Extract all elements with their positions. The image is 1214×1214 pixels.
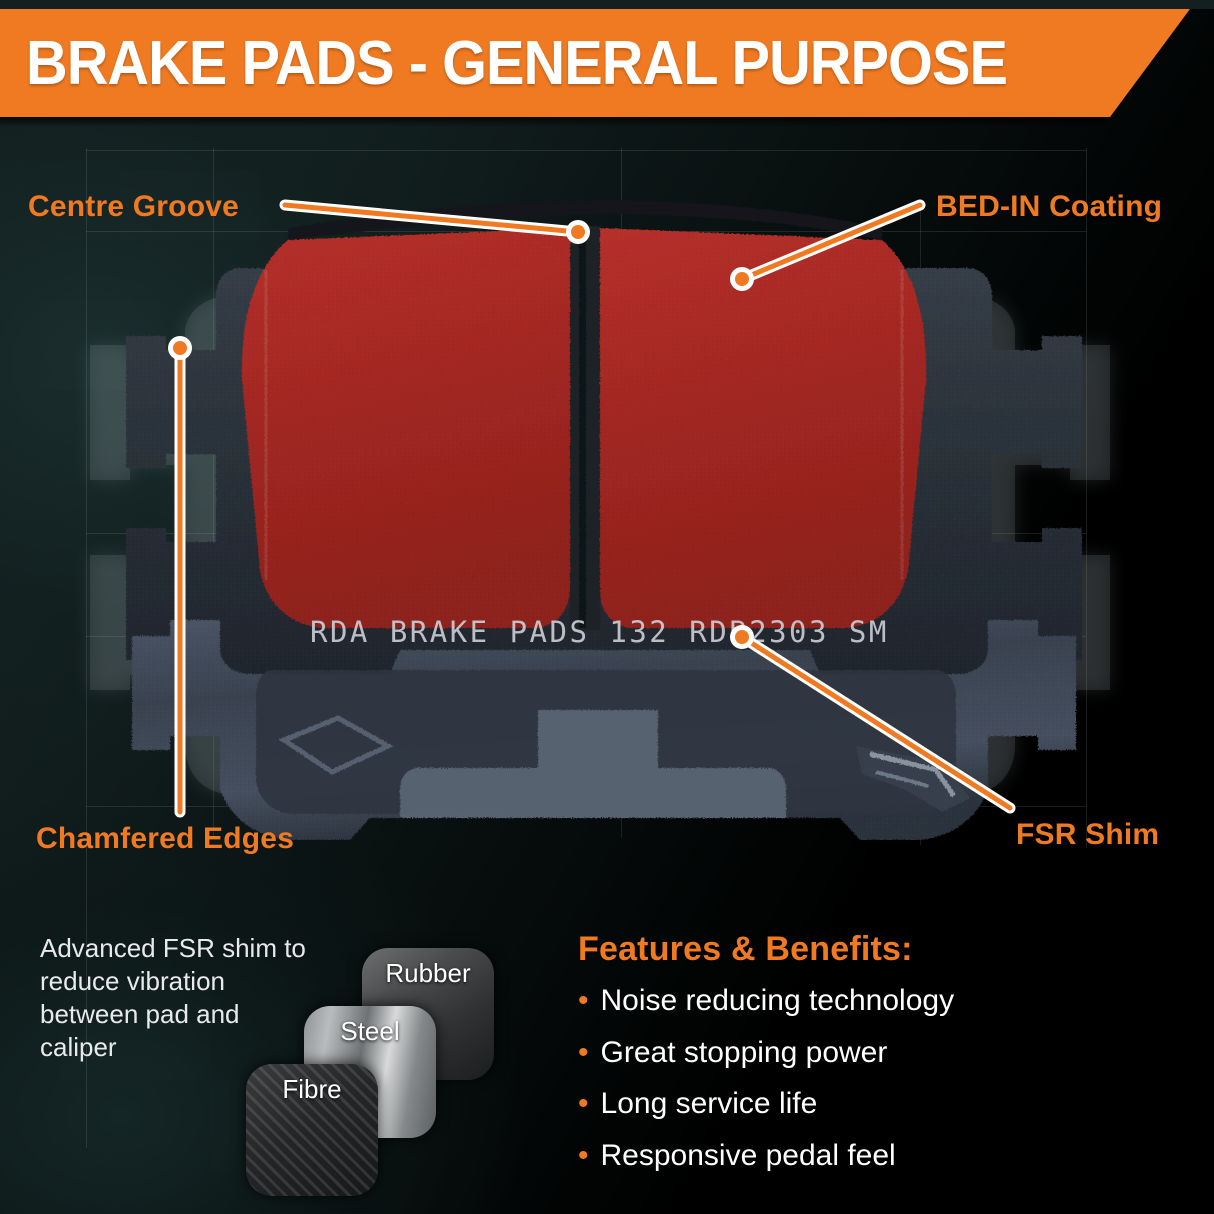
bullet-icon: • bbox=[578, 1141, 589, 1171]
bullet-icon: • bbox=[578, 1089, 589, 1119]
bullet-icon: • bbox=[578, 1038, 589, 1068]
infographic-page: BRAKE PADS - GENERAL PURPOSE bbox=[0, 0, 1214, 1214]
feature-label: Long service life bbox=[601, 1088, 818, 1120]
brake-pad-graphic: RDA BRAKE PADS 132 RDB2303 SM bbox=[70, 150, 1150, 840]
brake-pad-illustration: RDA BRAKE PADS 132 RDB2303 SM bbox=[70, 150, 1150, 840]
layer-fibre-label: Fibre bbox=[282, 1074, 341, 1105]
header-banner: BRAKE PADS - GENERAL PURPOSE bbox=[0, 9, 1190, 117]
features-section: Features & Benefits: • Noise reducing te… bbox=[578, 930, 1098, 1191]
banner-drop-shadow bbox=[0, 117, 1190, 127]
feature-item: • Responsive pedal feel bbox=[578, 1140, 1098, 1172]
page-title: BRAKE PADS - GENERAL PURPOSE bbox=[26, 28, 1007, 99]
callout-label-bed-in-coating: BED-IN Coating bbox=[936, 190, 1162, 224]
layer-steel-label: Steel bbox=[340, 1016, 399, 1047]
layer-rubber-label: Rubber bbox=[385, 958, 470, 989]
feature-item: • Great stopping power bbox=[578, 1037, 1098, 1069]
shim-layer-diagram: Rubber Steel Fibre bbox=[242, 930, 512, 1180]
callout-label-fsr-shim: FSR Shim bbox=[1016, 818, 1159, 852]
stamped-part-number: RDA BRAKE PADS 132 RDB2303 SM bbox=[310, 615, 889, 649]
callout-label-chamfered-edges: Chamfered Edges bbox=[36, 822, 294, 856]
banner-top-strip bbox=[0, 0, 1214, 9]
feature-label: Responsive pedal feel bbox=[601, 1140, 896, 1172]
features-title: Features & Benefits: bbox=[578, 930, 1098, 969]
feature-item: • Long service life bbox=[578, 1088, 1098, 1120]
feature-item: • Noise reducing technology bbox=[578, 985, 1098, 1017]
callout-label-centre-groove: Centre Groove bbox=[28, 190, 239, 224]
feature-label: Noise reducing technology bbox=[601, 985, 955, 1017]
layer-fibre: Fibre bbox=[246, 1064, 378, 1196]
feature-label: Great stopping power bbox=[601, 1037, 888, 1069]
bullet-icon: • bbox=[578, 986, 589, 1016]
